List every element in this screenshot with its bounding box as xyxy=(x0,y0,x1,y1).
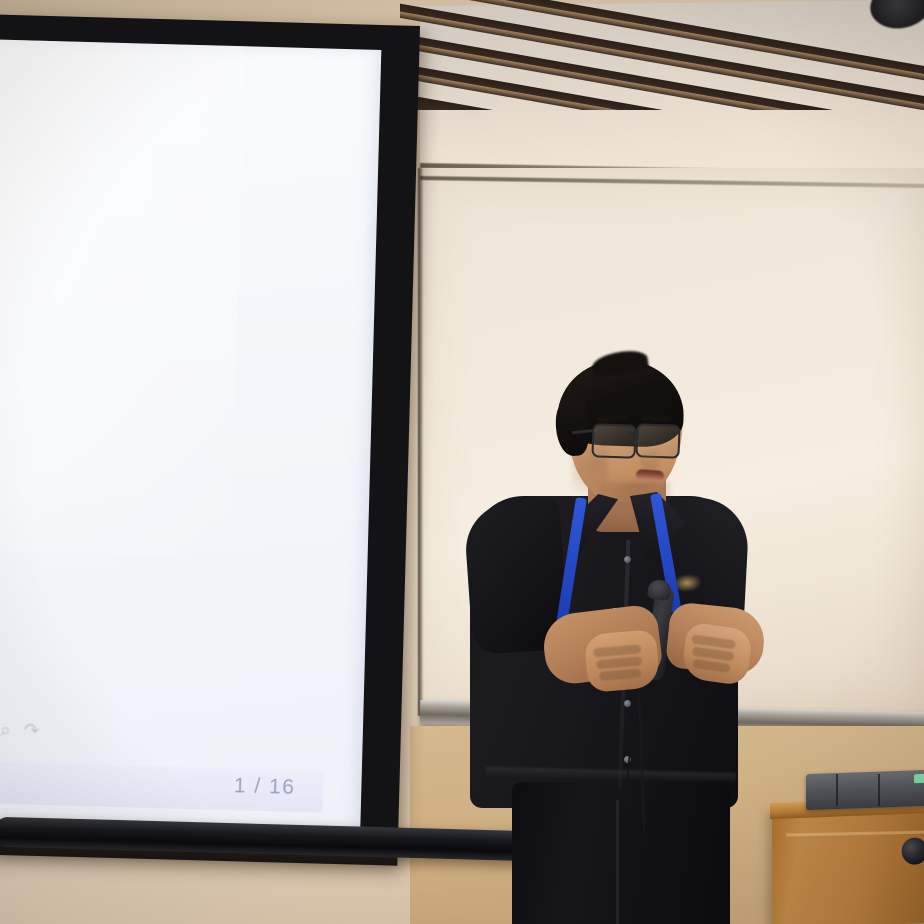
presenter-trousers xyxy=(512,782,730,924)
presenter-eyebrow-right xyxy=(640,416,672,422)
glasses-lens-left xyxy=(591,423,636,459)
glasses-bridge xyxy=(630,432,639,435)
trouser-crease xyxy=(616,800,619,924)
presenter-nose xyxy=(640,446,660,472)
presenter xyxy=(0,0,924,924)
presenter-mouth xyxy=(636,469,665,482)
presenter-hair-side xyxy=(554,397,590,457)
shirt-button xyxy=(624,700,631,707)
shirt-button xyxy=(624,556,631,563)
presentation-photo-scene: t” Big Data in Business ‹ › ‹ › ‹ › xyxy=(0,0,924,924)
